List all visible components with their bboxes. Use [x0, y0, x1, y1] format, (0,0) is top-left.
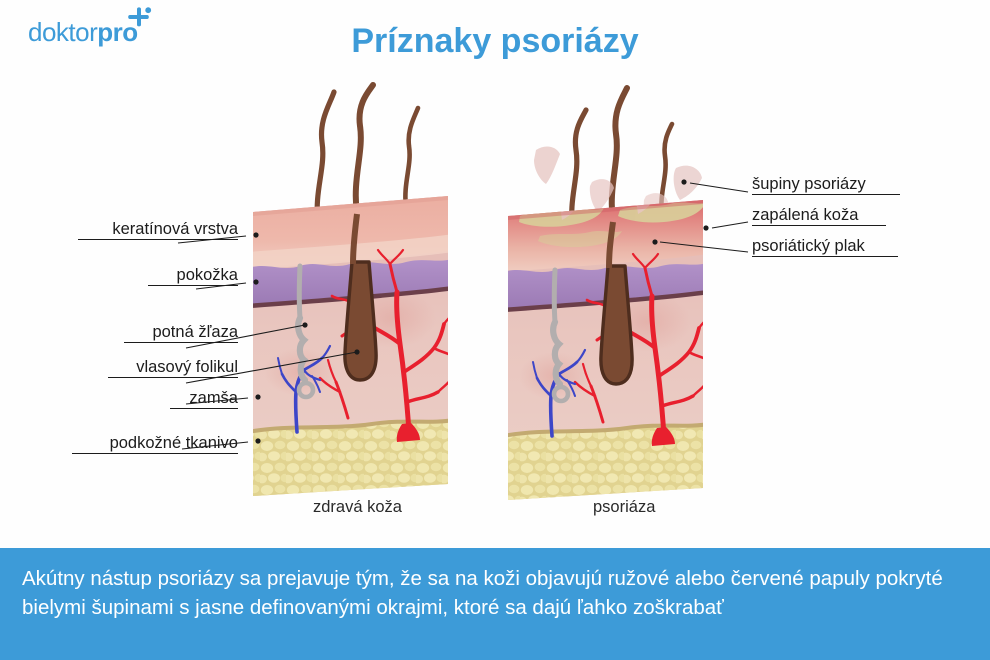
label-keratin-text: keratínová vrstva [112, 220, 238, 238]
label-hair-follicle: vlasový folikul [108, 358, 238, 378]
label-inflamed-skin-text: zapálená koža [752, 206, 858, 224]
label-keratin: keratínová vrstva [78, 220, 238, 240]
label-subcutaneous: podkožné tkanivo [72, 434, 238, 454]
label-underline [108, 377, 238, 378]
label-underline [78, 239, 238, 240]
label-plaque: psoriátický plak [752, 237, 898, 257]
label-underline [752, 256, 898, 257]
label-inflamed-skin: zapálená koža [752, 206, 886, 226]
label-hair-follicle-text: vlasový folikul [136, 358, 238, 376]
footer-description: Akútny nástup psoriázy sa prejavuje tým,… [22, 564, 968, 622]
label-underline [752, 194, 900, 195]
label-scales-text: šupiny psoriázy [752, 175, 866, 193]
label-epidermis-text: pokožka [177, 266, 238, 284]
label-epidermis: pokožka [148, 266, 238, 286]
label-underline [170, 408, 238, 409]
label-sweat-gland-text: potná žľaza [152, 323, 238, 341]
footer-banner: Akútny nástup psoriázy sa prejavuje tým,… [0, 548, 990, 660]
label-dermis: zamša [170, 389, 238, 409]
label-sweat-gland: potná žľaza [124, 323, 238, 343]
label-subcutaneous-text: podkožné tkanivo [110, 434, 238, 452]
healthy-skin-block [248, 85, 456, 502]
label-underline [752, 225, 886, 226]
caption-psoriasis: psoriáza [593, 498, 655, 517]
infographic-root: doktorpro Príznaky psoriázy [0, 0, 990, 660]
caption-healthy: zdravá koža [313, 498, 402, 517]
psoriasis-skin-block [503, 88, 711, 506]
label-plaque-text: psoriátický plak [752, 237, 865, 255]
label-underline [72, 453, 238, 454]
label-underline [124, 342, 238, 343]
label-dermis-text: zamša [189, 389, 238, 407]
label-scales: šupiny psoriázy [752, 175, 900, 195]
label-underline [148, 285, 238, 286]
